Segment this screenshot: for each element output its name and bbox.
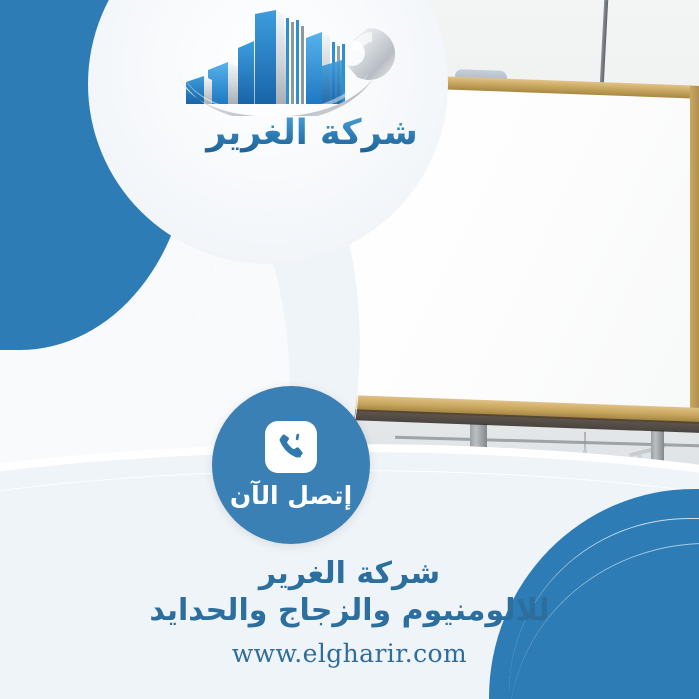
- billboard-frame-right: [690, 86, 699, 416]
- logo-wordmark: شركة الغرير: [172, 112, 452, 154]
- website-url[interactable]: www.elgharir.com: [0, 639, 699, 668]
- call-now-button[interactable]: إتصل الآن: [212, 386, 370, 544]
- brand-logo: شركة الغرير: [172, 8, 452, 183]
- company-services-line: للالومنيوم والزجاج والحدايد: [0, 593, 699, 630]
- call-now-label: إتصل الآن: [230, 481, 352, 510]
- poster-canvas: شركة الغرير إتصل الآن شركة الغرير للالوم…: [0, 0, 699, 699]
- buildings-wrench-logo-icon: [172, 8, 452, 116]
- footer-block: شركة الغرير للالومنيوم والزجاج والحدايد …: [0, 556, 699, 668]
- company-name-line: شركة الغرير: [0, 556, 699, 593]
- phone-icon: [265, 421, 317, 473]
